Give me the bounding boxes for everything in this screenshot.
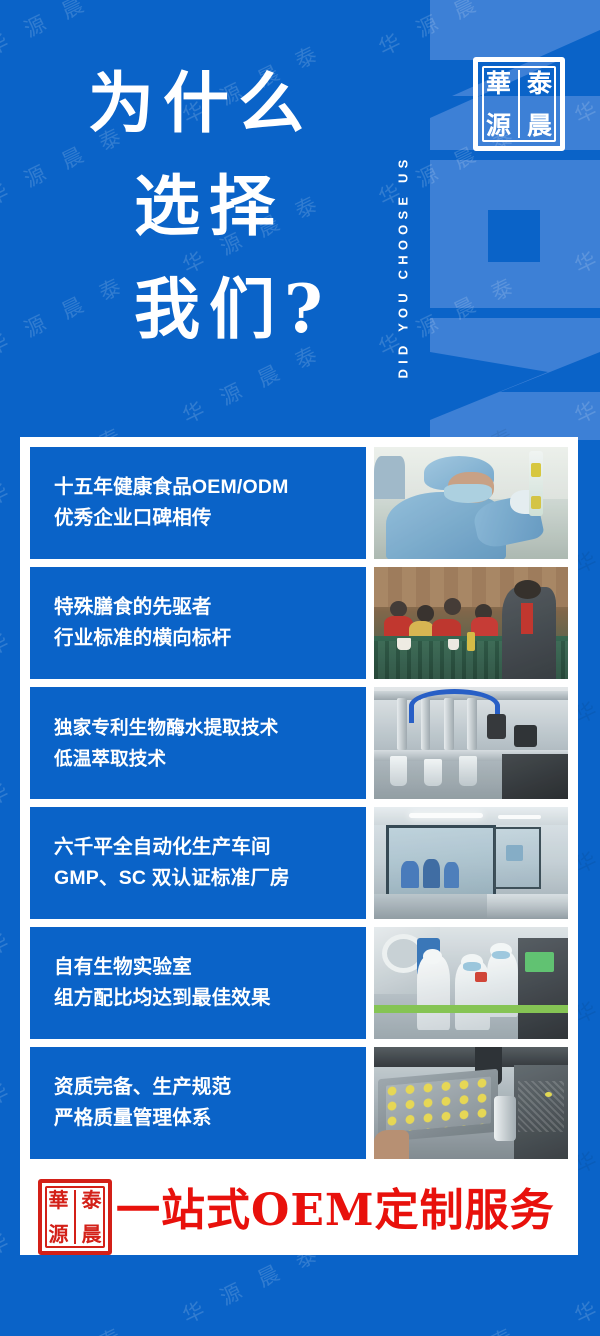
title-line-1: 为什么: [88, 52, 388, 155]
vertical-tagline: DID YOU CHOOSE US: [386, 26, 414, 396]
feature-6-line-2: 严格质量管理体系: [54, 1103, 366, 1134]
title-line-3: 我们?: [88, 258, 388, 361]
feature-photo-6: [374, 1047, 568, 1159]
brand-seal-red-icon: 晨 華 泰 源: [38, 1179, 112, 1255]
seal-char-top-left: 晨: [527, 113, 552, 138]
seal-char-top-right: 華: [486, 71, 511, 96]
feature-6-line-1: 资质完备、生产规范: [54, 1072, 366, 1103]
watermark-text: 华 源 晨 泰: [0, 1318, 132, 1336]
feature-3-line-2: 低温萃取技术: [54, 743, 366, 774]
banner-seal-char-bottom-right: 源: [49, 1224, 69, 1244]
bottom-banner-text: 一站式OEM定制服务: [116, 1189, 555, 1233]
title-line-2: 选择: [88, 155, 388, 258]
feature-photo-4: [374, 807, 568, 919]
brand-seal-icon: 晨 華 泰 源: [473, 57, 565, 151]
page-title: 为什么 选择 我们?: [88, 52, 388, 361]
banner-seal-char-bottom-left: 泰: [82, 1190, 102, 1210]
feature-text-5: 自有生物实验室 组方配比均达到最佳效果: [30, 927, 366, 1039]
feature-1-line-1: 十五年健康食品OEM/ODM: [54, 472, 366, 503]
feature-5-line-2: 组方配比均达到最佳效果: [54, 983, 366, 1014]
vertical-tagline-text: DID YOU CHOOSE US: [396, 49, 411, 379]
feature-photo-2: [374, 567, 568, 679]
feature-row-1: 十五年健康食品OEM/ODM 优秀企业口碑相传: [30, 447, 568, 559]
feature-photo-1: [374, 447, 568, 559]
feature-row-3: 独家专利生物酶水提取技术 低温萃取技术: [30, 687, 568, 799]
feature-4-line-2: GMP、SC 双认证标准厂房: [54, 863, 366, 894]
feature-text-4: 六千平全自动化生产车间 GMP、SC 双认证标准厂房: [30, 807, 366, 919]
feature-photo-3: [374, 687, 568, 799]
feature-text-1: 十五年健康食品OEM/ODM 优秀企业口碑相传: [30, 447, 366, 559]
banner-seal-char-top-left: 晨: [82, 1224, 102, 1244]
poster-root: 为什么 选择 我们? DID YOU CHOOSE US 晨 華 泰 源 十五年…: [0, 0, 600, 1336]
feature-5-line-1: 自有生物实验室: [54, 952, 366, 983]
feature-3-line-1: 独家专利生物酶水提取技术: [54, 712, 366, 743]
feature-list-frame: 十五年健康食品OEM/ODM 优秀企业口碑相传 特殊膳食的先驱者 行业标准的横向…: [20, 437, 578, 1167]
feature-photo-5: [374, 927, 568, 1039]
feature-rows: 十五年健康食品OEM/ODM 优秀企业口碑相传 特殊膳食的先驱者 行业标准的横向…: [30, 447, 568, 1157]
feature-1-line-2: 优秀企业口碑相传: [54, 503, 366, 534]
feature-text-3: 独家专利生物酶水提取技术 低温萃取技术: [30, 687, 366, 799]
feature-row-4: 六千平全自动化生产车间 GMP、SC 双认证标准厂房: [30, 807, 568, 919]
feature-2-line-2: 行业标准的横向标杆: [54, 623, 366, 654]
feature-4-line-1: 六千平全自动化生产车间: [54, 832, 366, 863]
seal-char-bottom-left: 泰: [527, 71, 552, 96]
feature-text-6: 资质完备、生产规范 严格质量管理体系: [30, 1047, 366, 1159]
feature-row-5: 自有生物实验室 组方配比均达到最佳效果: [30, 927, 568, 1039]
feature-2-line-1: 特殊膳食的先驱者: [54, 592, 366, 623]
seal-char-bottom-right: 源: [486, 113, 511, 138]
watermark-text: 华 源 晨 泰: [373, 1318, 524, 1336]
feature-text-2: 特殊膳食的先驱者 行业标准的横向标杆: [30, 567, 366, 679]
banner-seal-char-top-right: 華: [49, 1190, 69, 1210]
feature-row-2: 特殊膳食的先驱者 行业标准的横向标杆: [30, 567, 568, 679]
feature-row-6: 资质完备、生产规范 严格质量管理体系: [30, 1047, 568, 1159]
